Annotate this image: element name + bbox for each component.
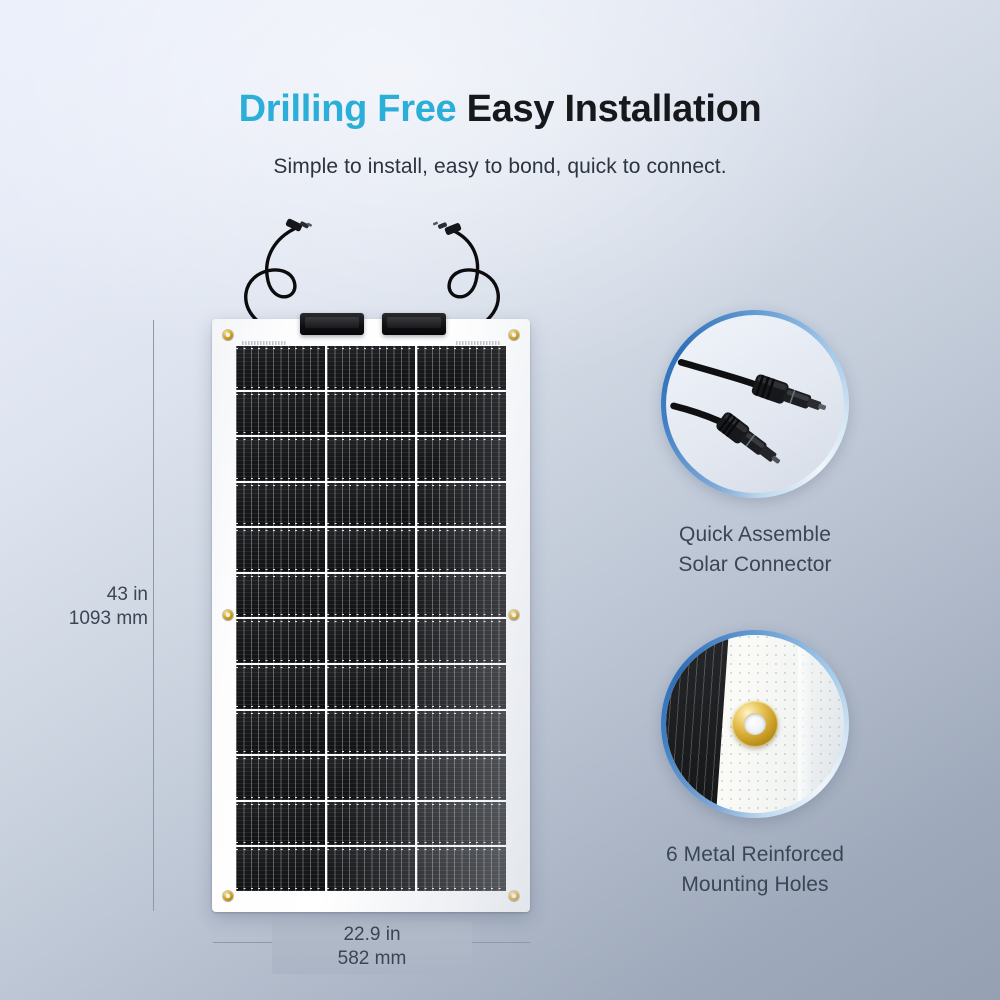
callout-label-line2: Mounting Holes — [605, 870, 905, 900]
metal-grommet-mounting-hole-icon — [732, 701, 778, 747]
junction-box — [382, 313, 446, 335]
callout-label-line2: Solar Connector — [605, 550, 905, 580]
solar-panel-product-image — [212, 319, 530, 912]
height-dimension-line — [153, 320, 154, 911]
panel-body — [212, 319, 530, 912]
panel-sheen — [212, 319, 530, 912]
page-title: Drilling Free Easy Installation — [0, 90, 1000, 128]
title-highlight: Drilling Free — [239, 88, 457, 130]
callout-circle-ring — [661, 310, 849, 498]
height-inches: 43 in — [56, 583, 148, 607]
panel-edge-highlight — [798, 635, 814, 813]
title-rest: Easy Installation — [467, 88, 762, 130]
junction-box — [300, 313, 364, 335]
header: Drilling Free Easy Installation Simple t… — [0, 0, 1000, 179]
callout-label-line1: 6 Metal Reinforced — [605, 840, 905, 870]
height-dimension-label: 43 in 1093 mm — [56, 583, 148, 632]
page-subtitle: Simple to install, easy to bond, quick t… — [0, 155, 1000, 179]
callout-label: 6 Metal Reinforced Mounting Holes — [605, 840, 905, 900]
callout-circle-inner — [666, 315, 844, 493]
callout-circle-ring — [661, 630, 849, 818]
width-inches: 22.9 in — [272, 923, 472, 947]
height-millimeters: 1093 mm — [56, 607, 148, 631]
callout-label: Quick Assemble Solar Connector — [605, 520, 905, 580]
width-millimeters: 582 mm — [272, 947, 472, 971]
width-dimension-label: 22.9 in 582 mm — [272, 921, 472, 974]
callout-label-line1: Quick Assemble — [605, 520, 905, 550]
callout-circle-inner — [666, 635, 844, 813]
callout-mounting-holes: 6 Metal Reinforced Mounting Holes — [605, 630, 905, 900]
callout-solar-connector: Quick Assemble Solar Connector — [605, 310, 905, 580]
mc4-solar-connector-pair-icon — [666, 315, 844, 493]
